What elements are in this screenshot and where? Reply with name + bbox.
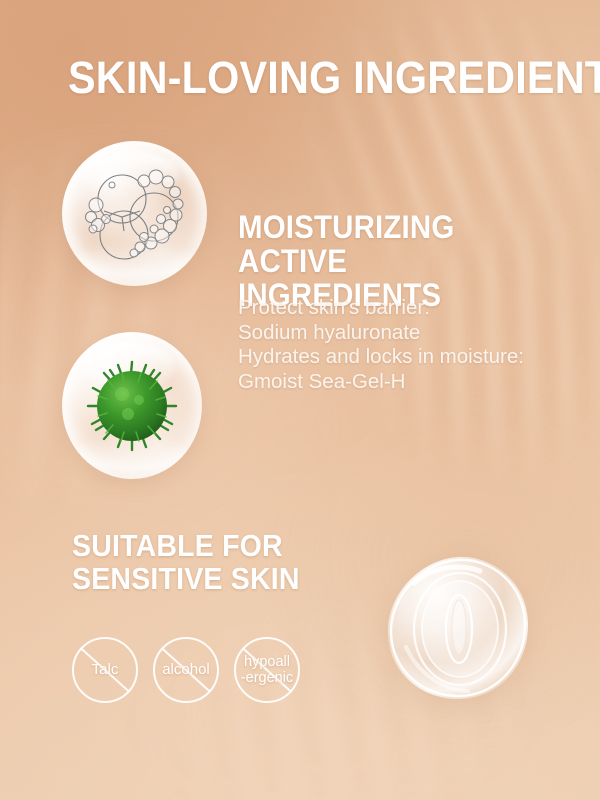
- bubble-cluster-icon: [62, 141, 207, 286]
- moss-ball-icon: [62, 332, 202, 479]
- badge-no-alcohol: alcohol: [153, 637, 219, 703]
- body-line-1: Protect skin's barrier:: [238, 296, 558, 321]
- body-line-3: Hydrates and locks in moisture:: [238, 345, 558, 370]
- section-heading-sensitive-skin: SUITABLE FOR SENSITIVE SKIN: [72, 529, 320, 595]
- product-infographic-poster: SKIN-LOVING INGREDIENTS: [0, 0, 600, 800]
- badge-label-line-1: hypoall: [244, 654, 290, 670]
- badge-no-talc: Talc: [72, 637, 138, 703]
- badge-label-alcohol: alcohol: [162, 662, 210, 678]
- body-line-2: Sodium hyaluronate: [238, 321, 558, 346]
- body-line-4: Gmoist Sea-Gel-H: [238, 370, 558, 395]
- badge-label-line-2: -ergenic: [241, 670, 293, 686]
- bubble-foam-droplet: [62, 141, 207, 286]
- clear-gel-blob: [384, 553, 532, 701]
- green-moss-droplet: [62, 332, 202, 479]
- page-title: SKIN-LOVING INGREDIENTS: [68, 54, 600, 102]
- badge-label-hypoallergenic: hypoall -ergenic: [241, 654, 293, 686]
- badge-no-hypoallergenic: hypoall -ergenic: [234, 637, 300, 703]
- badge-label-talc: Talc: [92, 662, 119, 678]
- ingredients-body-copy: Protect skin's barrier: Sodium hyalurona…: [238, 296, 558, 394]
- free-from-badge-row: Talc alcohol hypoall -ergenic: [72, 637, 300, 703]
